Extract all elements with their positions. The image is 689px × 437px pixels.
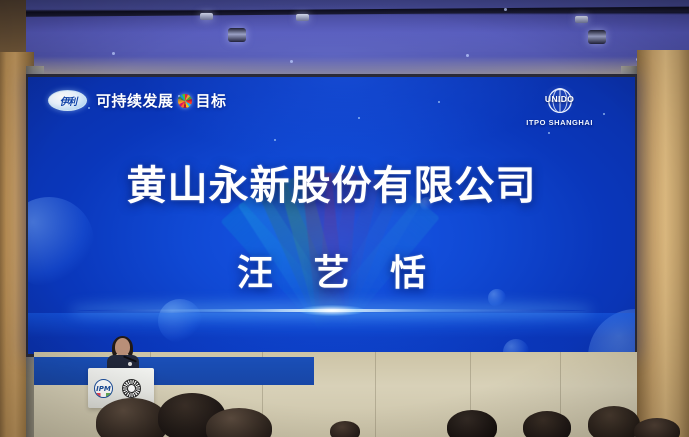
star-speck xyxy=(438,101,440,103)
wood-panel-right xyxy=(637,50,689,437)
audience-head xyxy=(523,411,571,437)
ceiling-downlight xyxy=(228,28,246,42)
led-screen[interactable]: 伊利 可持续发展 目标 UNIDO ITPO SHANGHAI 黄山永新股份有限… xyxy=(28,77,635,354)
screenshot-stage: 伊利 可持续发展 目标 UNIDO ITPO SHANGHAI 黄山永新股份有限… xyxy=(0,0,689,437)
ceiling-spotlight xyxy=(200,13,213,20)
audience-head xyxy=(330,421,360,437)
unido-name: UNIDO xyxy=(545,94,574,104)
ipm-logo-label: IPM xyxy=(96,385,111,393)
speaker-head xyxy=(115,338,130,356)
ceiling-spotlight xyxy=(575,16,588,23)
ipm-roundel-icon: IPM xyxy=(94,379,113,398)
slide-speaker-name: 汪 艺 恬 xyxy=(28,244,635,296)
wall-seam xyxy=(375,352,376,437)
podium-logo-group: IPM xyxy=(94,379,141,398)
ceiling-light-dot xyxy=(504,8,507,11)
ceiling-downlight xyxy=(588,30,606,44)
ceiling-light-dot xyxy=(466,54,469,57)
star-speck xyxy=(358,117,360,119)
star-speck xyxy=(548,132,550,134)
unido-logo-block: UNIDO ITPO SHANGHAI xyxy=(526,85,593,127)
audience-head xyxy=(588,406,640,437)
star-speck xyxy=(603,113,605,115)
gear-emblem-icon xyxy=(122,379,141,398)
sdg-campaign-text-right: 目标 xyxy=(196,90,227,111)
sdg-campaign-text-left: 可持续发展 xyxy=(96,90,174,111)
yili-logo-label: 伊利 xyxy=(59,93,76,108)
light-flare-core xyxy=(299,305,365,316)
slide-title: 黄山永新股份有限公司 xyxy=(28,153,635,211)
ceiling xyxy=(0,0,689,78)
audience-head xyxy=(447,410,497,437)
stage-blue-backdrop xyxy=(34,357,314,385)
audience-head xyxy=(634,418,680,437)
unido-globe-icon: UNIDO xyxy=(542,85,578,116)
slide-header: 伊利 可持续发展 目标 xyxy=(48,90,227,111)
ceiling-light-dot xyxy=(290,60,293,63)
star-speck xyxy=(274,139,276,141)
unido-office-label: ITPO SHANGHAI xyxy=(526,118,593,127)
yili-brand-logo: 伊利 xyxy=(48,90,87,111)
sdg-wheel-icon xyxy=(178,94,192,108)
ceiling-light-dot xyxy=(112,52,115,55)
speaker-badge xyxy=(128,362,132,366)
ceiling-spotlight xyxy=(296,14,309,21)
sdg-campaign-text: 可持续发展 目标 xyxy=(96,90,227,111)
